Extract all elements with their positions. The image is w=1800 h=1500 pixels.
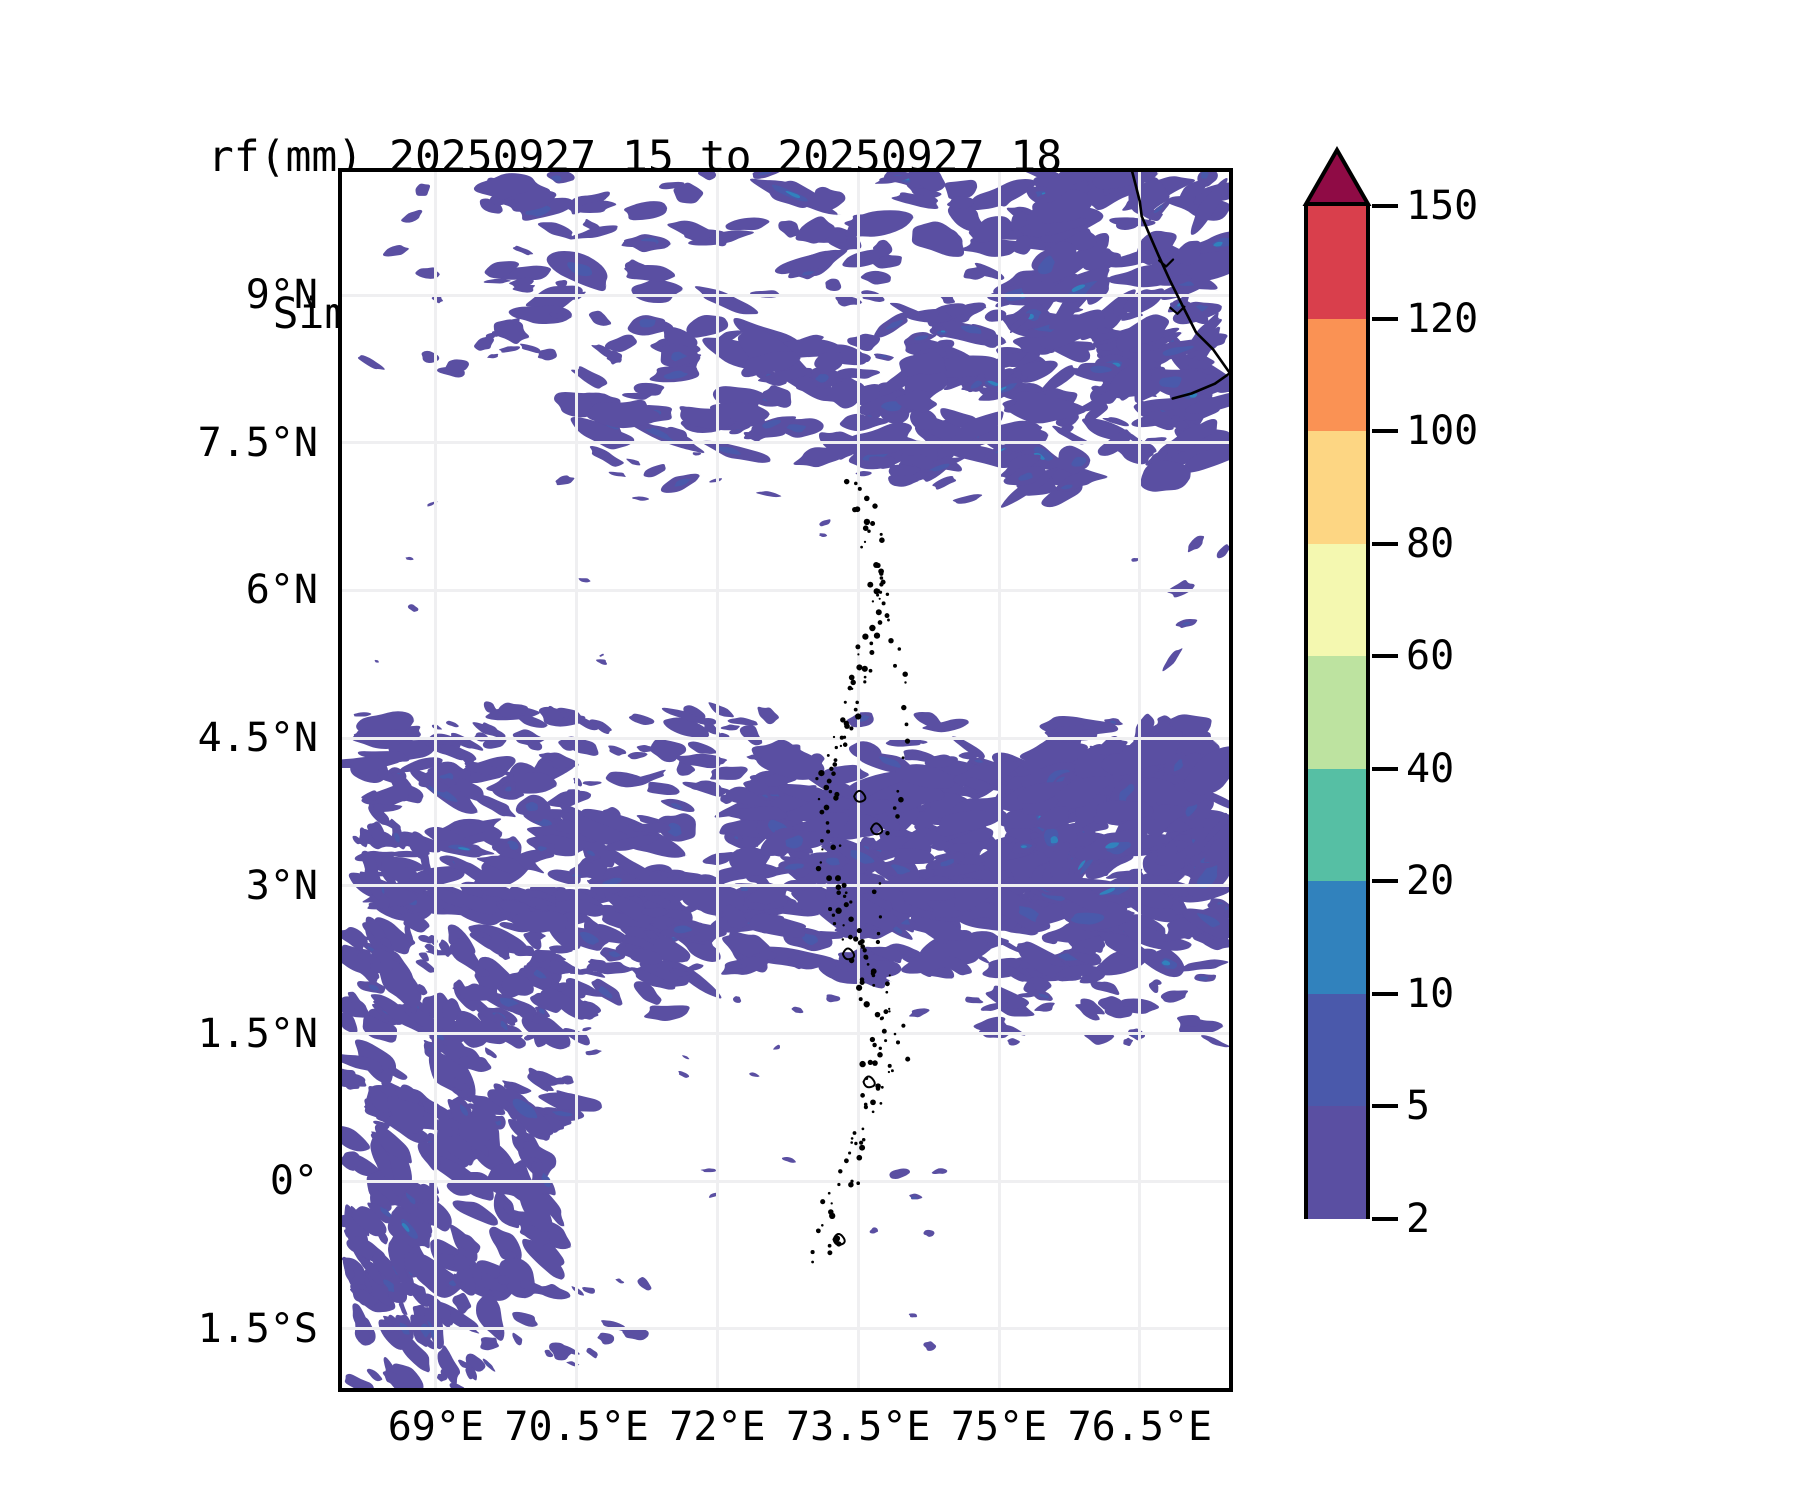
- y-tick-label-5: 1.5°N: [198, 1011, 318, 1057]
- colorbar-tick-label-80: 80: [1406, 521, 1454, 567]
- y-tick-label-4: 3°N: [246, 863, 318, 909]
- y-tick-label-0: 9°N: [246, 272, 318, 318]
- colorbar-segment-100-120: [1308, 319, 1366, 432]
- colorbar-tick-label-5: 5: [1406, 1083, 1430, 1129]
- map-canvas: [342, 172, 1229, 1388]
- x-tick-label-0: 69°E: [388, 1404, 484, 1450]
- x-tick-label-5: 76.5°E: [1068, 1404, 1213, 1450]
- colorbar-tick-80: [1372, 542, 1398, 546]
- colorbar-segment-5-10: [1308, 994, 1366, 1107]
- colorbar-tick-label-60: 60: [1406, 633, 1454, 679]
- colorbar-tick-label-10: 10: [1406, 971, 1454, 1017]
- x-tick-label-1: 70.5°E: [504, 1404, 649, 1450]
- y-tick-label-7: 1.5°S: [198, 1306, 318, 1352]
- colorbar[interactable]: [1304, 148, 1370, 1220]
- colorbar-segment-2-5: [1308, 1106, 1366, 1219]
- y-tick-label-3: 4.5°N: [198, 715, 318, 761]
- coastline-overlay: [342, 172, 1229, 1388]
- colorbar-tick-60: [1372, 654, 1398, 658]
- x-tick-label-2: 72°E: [669, 1404, 765, 1450]
- colorbar-tick-label-150: 150: [1406, 183, 1478, 229]
- colorbar-tick-40: [1372, 767, 1398, 771]
- colorbar-segment-40-60: [1308, 656, 1366, 769]
- colorbar-tick-20: [1372, 879, 1398, 883]
- colorbar-extend-arrow: [1304, 148, 1370, 206]
- y-tick-label-6: 0°: [270, 1158, 318, 1204]
- colorbar-tick-label-40: 40: [1406, 746, 1454, 792]
- x-tick-label-3: 73.5°E: [786, 1404, 931, 1450]
- colorbar-tick-5: [1372, 1104, 1398, 1108]
- colorbar-segment-20-40: [1308, 769, 1366, 882]
- map-plot-area[interactable]: [338, 168, 1233, 1392]
- colorbar-tick-label-2: 2: [1406, 1196, 1430, 1242]
- colorbar-segment-60-80: [1308, 544, 1366, 657]
- colorbar-tick-label-100: 100: [1406, 408, 1478, 454]
- x-tick-label-4: 75°E: [951, 1404, 1047, 1450]
- y-tick-label-2: 6°N: [246, 567, 318, 613]
- colorbar-tick-10: [1372, 992, 1398, 996]
- colorbar-gradient: [1304, 206, 1370, 1219]
- colorbar-tick-label-120: 120: [1406, 296, 1478, 342]
- colorbar-tick-label-20: 20: [1406, 858, 1454, 904]
- colorbar-segment-120-150: [1308, 206, 1366, 319]
- colorbar-segment-10-20: [1308, 881, 1366, 994]
- colorbar-segment-80-100: [1308, 431, 1366, 544]
- colorbar-tick-100: [1372, 429, 1398, 433]
- y-tick-label-1: 7.5°N: [198, 420, 318, 466]
- colorbar-tick-2: [1372, 1217, 1398, 1221]
- colorbar-tick-150: [1372, 204, 1398, 208]
- colorbar-tick-120: [1372, 317, 1398, 321]
